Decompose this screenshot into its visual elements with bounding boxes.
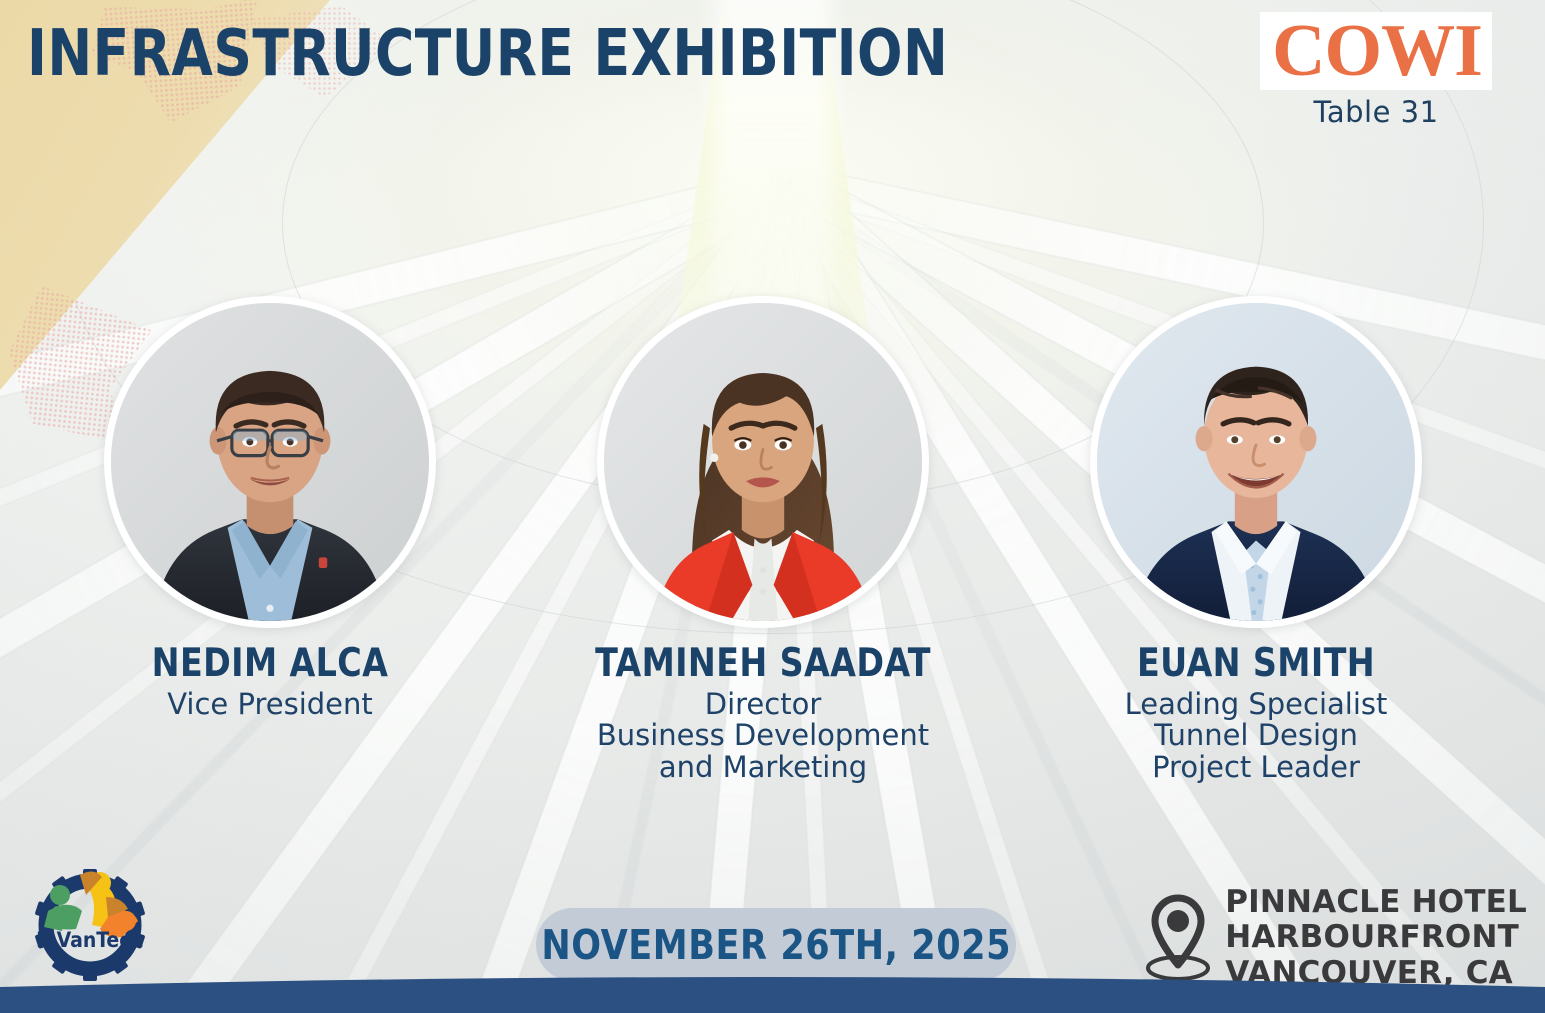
avatar — [597, 296, 929, 628]
speaker-card: NEDIM ALCA Vice President — [60, 296, 480, 720]
speaker-role: Director Business Development and Market… — [553, 689, 973, 783]
cowi-logo-text: COWI — [1272, 14, 1482, 88]
portrait-euan-smith — [1097, 303, 1415, 621]
map-pin-icon — [1139, 890, 1217, 986]
portrait-tamineh-saadat — [604, 303, 922, 621]
event-poster: INFRASTRUCTURE EXHIBITION COWI Table 31 — [0, 0, 1545, 1013]
speaker-name: NEDIM ALCA — [71, 644, 470, 685]
avatar — [1090, 296, 1422, 628]
avatar — [104, 296, 436, 628]
invantech-wordmark: InVanTech — [36, 928, 144, 952]
speaker-role: Vice President — [60, 689, 480, 720]
event-date-badge: NOVEMBER 26TH, 2025 — [536, 908, 1016, 981]
cowi-logo: COWI — [1260, 12, 1492, 90]
speaker-name: EUAN SMITH — [1057, 644, 1456, 685]
page-title: INFRASTRUCTURE EXHIBITION — [27, 22, 948, 86]
sponsor-table-number: Table 31 — [1241, 95, 1511, 129]
speaker-name: TAMINEH SAADAT — [564, 644, 963, 685]
portrait-nedim-alca — [111, 303, 429, 621]
bottom-accent-band — [0, 973, 1545, 1013]
speaker-card: TAMINEH SAADAT Director Business Develop… — [553, 296, 973, 783]
speaker-card: EUAN SMITH Leading Specialist Tunnel Des… — [1046, 296, 1466, 783]
speaker-role: Leading Specialist Tunnel Design Project… — [1046, 689, 1466, 783]
event-date: NOVEMBER 26TH, 2025 — [541, 921, 1011, 969]
sponsor-block: COWI Table 31 — [1241, 12, 1511, 129]
